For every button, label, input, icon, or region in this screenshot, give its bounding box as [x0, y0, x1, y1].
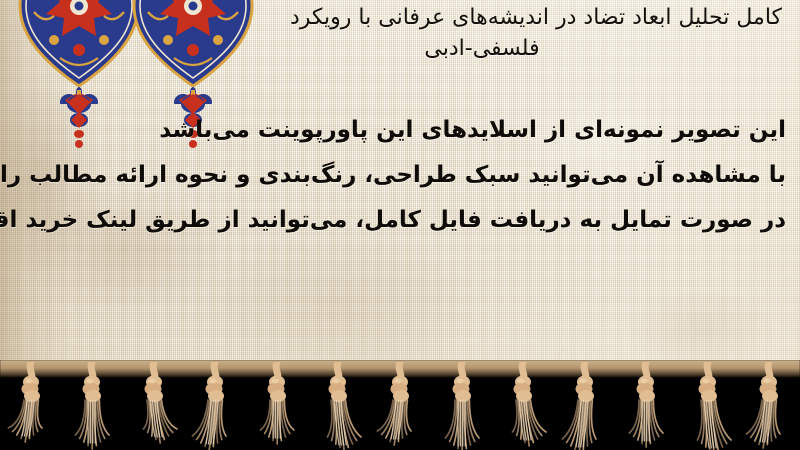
- fringe-tassel: [558, 362, 612, 450]
- body-line-1: این تصویر نمونه‌ای از اسلایدهای این پاور…: [6, 108, 786, 153]
- fringe-tassel: [188, 362, 242, 450]
- fringe-tassel: [681, 362, 735, 450]
- fringe-tassel: [65, 362, 119, 450]
- body-line-3: در صورت تمایل به دریافت فایل کامل، می‌تو…: [6, 198, 786, 243]
- slide-title: کامل تحلیل ابعاد تضاد در اندیشه‌های عرفا…: [222, 2, 782, 64]
- fringe-tassel: [435, 362, 489, 450]
- slide-canvas: کامل تحلیل ابعاد تضاد در اندیشه‌های عرفا…: [0, 0, 800, 450]
- body-line-2: با مشاهده آن می‌توانید سبک طراحی، رنگ‌بن…: [6, 153, 786, 198]
- fringe-tassel: [373, 362, 427, 450]
- fringe-tassel: [496, 362, 550, 450]
- carpet-fringe: [0, 360, 800, 450]
- fringe-tassel: [742, 362, 796, 450]
- slide-body: این تصویر نمونه‌ای از اسلایدهای این پاور…: [6, 108, 786, 243]
- fringe-tassel: [250, 362, 304, 450]
- fringe-tassel: [127, 362, 181, 450]
- slide-title-line-2: فلسفی-ادبی: [222, 33, 782, 64]
- fringe-tassel: [4, 362, 58, 450]
- fringe-tassel: [619, 362, 673, 450]
- carpet-medallion-left-ornament: [14, 0, 144, 108]
- medallion-svg: [14, 0, 144, 104]
- fringe-tassel: [311, 362, 365, 450]
- slide-title-line-1: کامل تحلیل ابعاد تضاد در اندیشه‌های عرفا…: [222, 2, 782, 33]
